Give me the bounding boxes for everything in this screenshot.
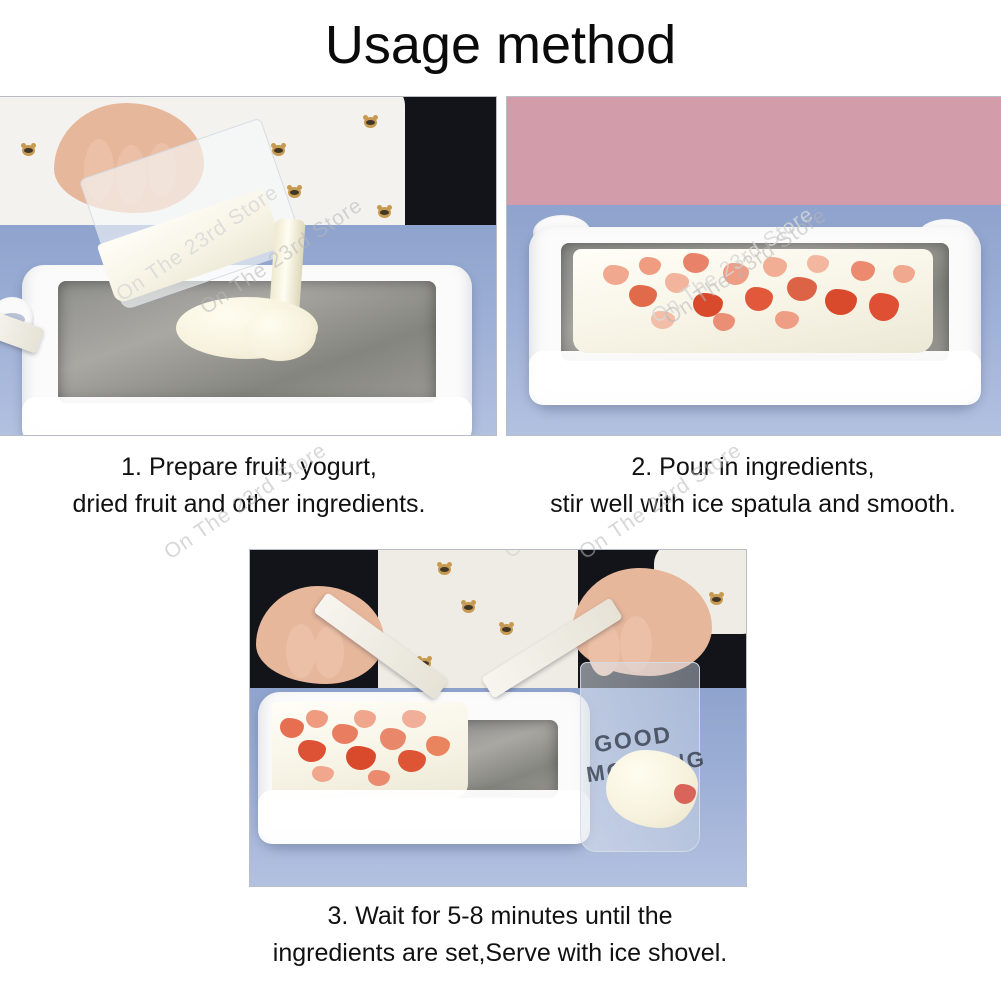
- yogurt-puddle-edge: [244, 309, 316, 361]
- caption-line: ingredients are set,Serve with ice shove…: [190, 935, 810, 972]
- step-3-scene: GOOD MORNING: [250, 550, 746, 886]
- step-1-caption: 1. Prepare fruit, yogurt, dried fruit an…: [0, 449, 498, 523]
- step-2-scene: [507, 97, 1001, 435]
- bear-face-icon: [272, 145, 285, 156]
- tray-front-lip: [22, 397, 472, 435]
- bear-face-icon: [288, 187, 301, 198]
- step-3-caption: 3. Wait for 5-8 minutes until the ingred…: [190, 898, 810, 972]
- step-2-caption: 2. Pour in ingredients, stir well with i…: [505, 449, 1001, 523]
- step-1-photo: On The 23rd Store: [0, 97, 496, 435]
- step-1-scene: [0, 97, 496, 435]
- bear-face-icon: [710, 594, 723, 605]
- pink-wall: [507, 97, 1001, 207]
- tray-front-lip: [529, 351, 981, 405]
- usage-method-infographic: Usage method: [0, 0, 1001, 1001]
- caption-line: 3. Wait for 5-8 minutes until the: [190, 898, 810, 935]
- step-2-photo: On The 23rd Store: [507, 97, 1001, 435]
- finger: [314, 626, 344, 678]
- caption-line: dried fruit and other ingredients.: [0, 486, 498, 523]
- caption-line: 2. Pour in ingredients,: [505, 449, 1001, 486]
- page-title: Usage method: [0, 14, 1001, 76]
- bear-face-icon: [378, 207, 391, 218]
- bear-face-icon: [438, 564, 451, 575]
- bear-face-icon: [500, 624, 513, 635]
- bear-face-icon: [364, 117, 377, 128]
- bear-face-icon: [22, 145, 35, 156]
- caption-line: 1. Prepare fruit, yogurt,: [0, 449, 498, 486]
- white-jacket-body: [378, 550, 578, 706]
- caption-line: stir well with ice spatula and smooth.: [505, 486, 1001, 523]
- step-3-photo: GOOD MORNING On The 23rd Store: [250, 550, 746, 886]
- finger: [286, 624, 316, 678]
- bear-face-icon: [462, 602, 475, 613]
- tray-front-lip: [258, 790, 590, 844]
